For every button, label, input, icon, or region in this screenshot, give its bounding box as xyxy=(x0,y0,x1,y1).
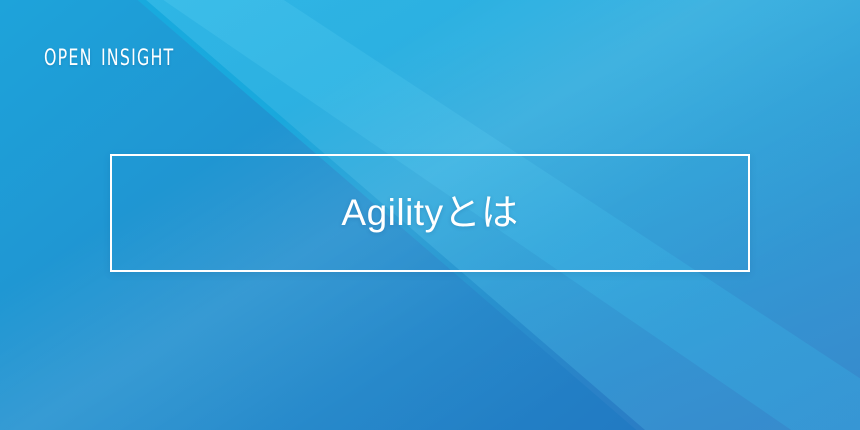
title-frame: Agilityとは xyxy=(110,154,750,272)
hero-banner: Open Insight Agilityとは xyxy=(0,0,860,430)
page-title: Agilityとは xyxy=(341,193,518,234)
site-logo[interactable]: Open Insight xyxy=(44,40,174,71)
